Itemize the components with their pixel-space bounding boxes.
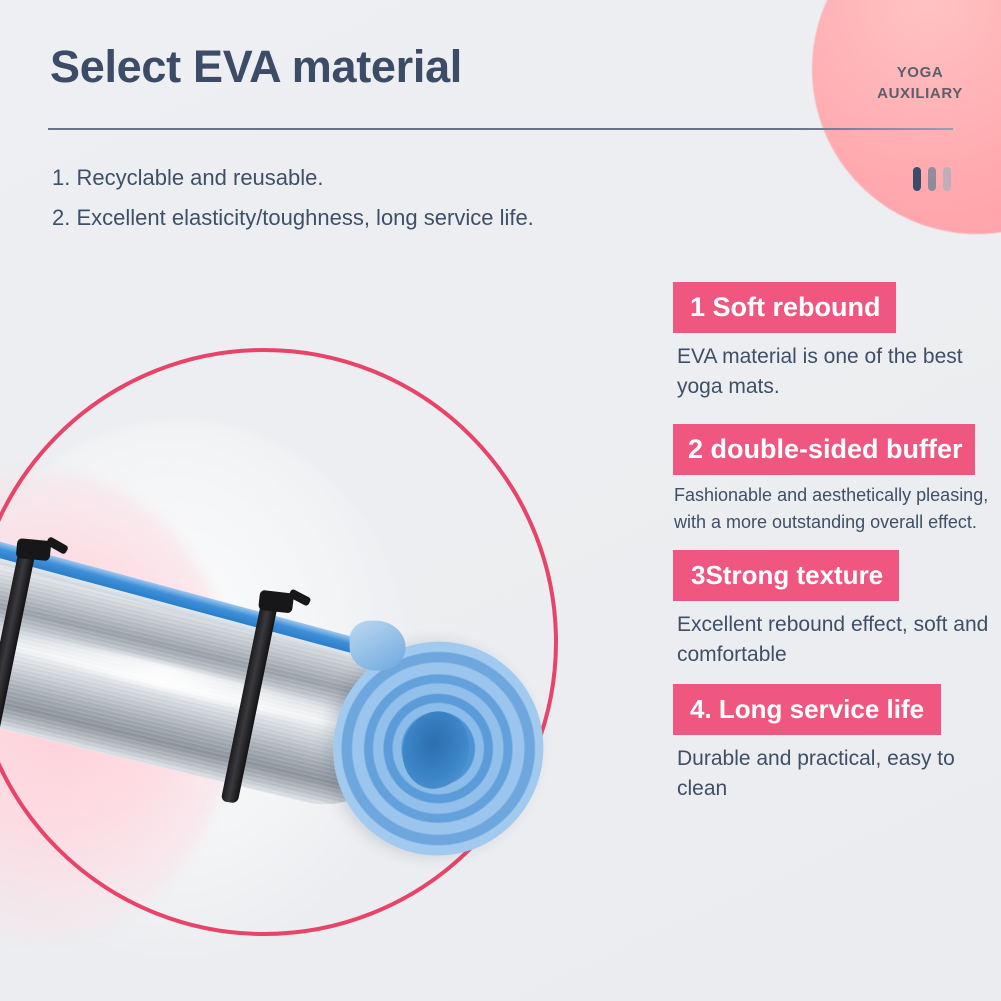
feature-description-2: Fashionable and aesthetically pleasing, … — [674, 482, 1001, 536]
page-title: Select EVA material — [50, 41, 462, 93]
title-divider — [48, 128, 953, 130]
bar-icon-2 — [928, 167, 936, 191]
pink-circle-decoration — [812, 0, 1001, 234]
bar-icon-1 — [913, 167, 921, 191]
feature-item-3: 3Strong texture Excellent rebound effect… — [673, 550, 1001, 670]
intro-list: 1. Recyclable and reusable. 2. Excellent… — [52, 158, 672, 238]
feature-badge-4: 4. Long service life — [673, 684, 941, 735]
feature-badge-3: 3Strong texture — [673, 550, 899, 601]
product-infographic: Select EVA material YOGA AUXILIARY 1. Re… — [0, 0, 1001, 1001]
brand-line-yoga: YOGA — [860, 62, 980, 83]
feature-badge-1: 1 Soft rebound — [673, 282, 896, 333]
bars-decoration-icon — [913, 167, 951, 191]
feature-list: 1 Soft rebound EVA material is one of th… — [673, 282, 1001, 818]
product-photo — [0, 348, 588, 940]
feature-description-3: Excellent rebound effect, soft and comfo… — [677, 610, 1001, 670]
feature-item-4: 4. Long service life Durable and practic… — [673, 684, 1001, 804]
intro-list-item: 1. Recyclable and reusable. — [52, 158, 672, 198]
feature-description-1: EVA material is one of the best yoga mat… — [677, 342, 1001, 402]
feature-badge-2: 2 double-sided buffer — [673, 424, 975, 475]
feature-item-2: 2 double-sided buffer Fashionable and ae… — [673, 424, 1001, 536]
brand-wordmark: YOGA AUXILIARY — [860, 62, 980, 104]
bar-icon-3 — [943, 167, 951, 191]
mat-roll-lip — [349, 620, 405, 670]
feature-item-1: 1 Soft rebound EVA material is one of th… — [673, 282, 1001, 402]
feature-description-4: Durable and practical, easy to clean — [677, 744, 1001, 804]
intro-list-item: 2. Excellent elasticity/toughness, long … — [52, 198, 672, 238]
brand-line-auxiliary: AUXILIARY — [860, 83, 980, 104]
